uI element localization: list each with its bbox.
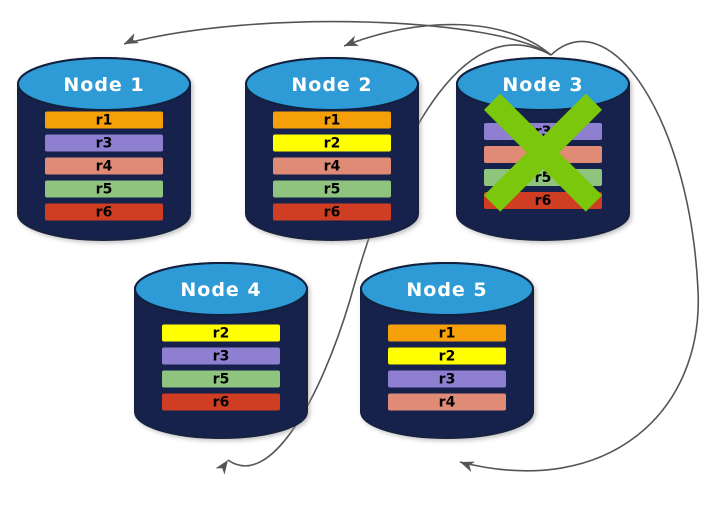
replica-label: r4 (96, 159, 113, 175)
node-label: Node 1 (63, 74, 144, 96)
replica-label: r1 (439, 326, 456, 342)
node-label: Node 4 (180, 279, 261, 301)
replica-label: r3 (96, 136, 113, 152)
replica-label: r2 (213, 326, 230, 342)
edge-curve (344, 25, 551, 55)
replica-label: r5 (324, 182, 341, 198)
replica-label: r2 (324, 136, 341, 152)
node-5[interactable]: Node 5r1r2r3r4 (361, 263, 533, 438)
cluster-diagram: Node 1r1r3r4r5r6Node 2r1r2r4r5r6Node 3r3… (0, 0, 708, 508)
node-2[interactable]: Node 2r1r2r4r5r6 (246, 58, 418, 240)
node-label: Node 5 (406, 279, 487, 301)
replica-label: r5 (96, 182, 113, 198)
replica-label: r1 (96, 113, 113, 129)
replica-label: r6 (535, 193, 552, 209)
edge-node3-to-node2 (342, 25, 551, 55)
replica-label: r6 (213, 395, 230, 411)
node-label: Node 2 (291, 74, 372, 96)
replica-label: r4 (324, 159, 341, 175)
replica-label: r3 (439, 372, 456, 388)
arrow-head-icon (342, 36, 359, 51)
replica-label: r6 (324, 205, 341, 221)
node-1[interactable]: Node 1r1r3r4r5r6 (18, 58, 190, 240)
replica-label: r6 (96, 205, 113, 221)
replica-label: r5 (213, 372, 230, 388)
replica-label: r3 (213, 349, 230, 365)
node-3[interactable]: Node 3r3r4r5r6 (457, 58, 629, 240)
replica-label: r2 (439, 349, 456, 365)
node-label: Node 3 (502, 74, 583, 96)
replica-label: r1 (324, 113, 341, 129)
replica-label: r4 (439, 395, 456, 411)
node-4[interactable]: Node 4r2r3r5r6 (135, 263, 307, 438)
nodes-layer: Node 1r1r3r4r5r6Node 2r1r2r4r5r6Node 3r3… (18, 58, 629, 438)
arrow-head-icon (215, 457, 232, 475)
